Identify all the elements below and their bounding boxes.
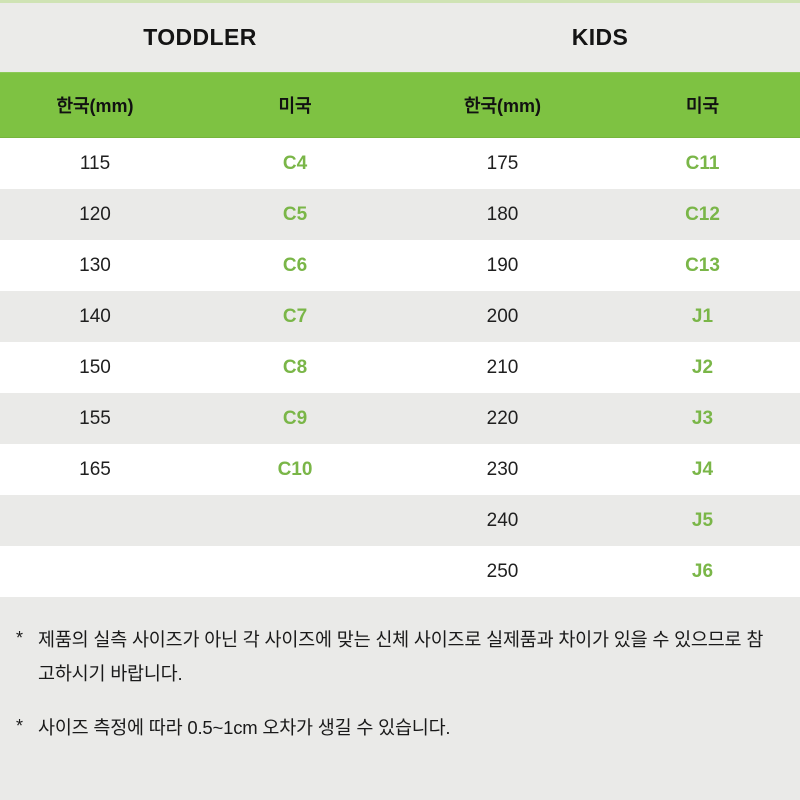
cell-toddler-usa: C6 — [190, 240, 400, 291]
asterisk-icon: * — [16, 711, 38, 741]
group-header-row: TODDLER KIDS — [0, 3, 800, 72]
group-title-toddler: TODDLER — [0, 3, 400, 72]
cell-toddler-usa — [190, 546, 400, 597]
column-header-kids-usa: 미국 — [605, 73, 800, 137]
cell-toddler-korea: 120 — [0, 189, 190, 240]
cell-toddler-korea — [0, 495, 190, 546]
cell-kids-korea: 230 — [400, 444, 605, 495]
cell-kids-korea: 220 — [400, 393, 605, 444]
table-row: 240J5 — [0, 495, 800, 546]
cell-kids-korea: 250 — [400, 546, 605, 597]
cell-toddler-usa — [190, 495, 400, 546]
column-header-toddler-usa: 미국 — [190, 73, 400, 137]
cell-kids-korea: 240 — [400, 495, 605, 546]
table-row: 140C7200J1 — [0, 291, 800, 342]
table-row: 250J6 — [0, 546, 800, 597]
asterisk-icon: * — [16, 623, 38, 653]
cell-kids-korea: 190 — [400, 240, 605, 291]
cell-toddler-korea: 165 — [0, 444, 190, 495]
cell-kids-usa: J6 — [605, 546, 800, 597]
table-row: 115C4175C11 — [0, 138, 800, 189]
cell-kids-usa: J5 — [605, 495, 800, 546]
cell-toddler-korea: 140 — [0, 291, 190, 342]
cell-toddler-korea: 130 — [0, 240, 190, 291]
table-row: 130C6190C13 — [0, 240, 800, 291]
cell-toddler-korea: 150 — [0, 342, 190, 393]
column-header-kids-korea: 한국(mm) — [400, 73, 605, 137]
cell-kids-usa: J4 — [605, 444, 800, 495]
cell-kids-korea: 180 — [400, 189, 605, 240]
cell-toddler-korea: 115 — [0, 138, 190, 189]
footnotes: *제품의 실측 사이즈가 아닌 각 사이즈에 맞는 신체 사이즈로 실제품과 차… — [0, 597, 800, 745]
cell-kids-korea: 175 — [400, 138, 605, 189]
size-chart-page: TODDLER KIDS 한국(mm) 미국 한국(mm) 미국 115C417… — [0, 0, 800, 800]
cell-toddler-usa: C9 — [190, 393, 400, 444]
table-row: 120C5180C12 — [0, 189, 800, 240]
cell-kids-usa: J3 — [605, 393, 800, 444]
cell-toddler-usa: C10 — [190, 444, 400, 495]
cell-toddler-usa: C7 — [190, 291, 400, 342]
cell-toddler-korea — [0, 546, 190, 597]
cell-kids-usa: C13 — [605, 240, 800, 291]
table-row: 155C9220J3 — [0, 393, 800, 444]
table-row: 165C10230J4 — [0, 444, 800, 495]
size-table-body: 115C4175C11120C5180C12130C6190C13140C720… — [0, 138, 800, 597]
cell-kids-usa: C12 — [605, 189, 800, 240]
group-title-kids: KIDS — [400, 3, 800, 72]
cell-toddler-usa: C8 — [190, 342, 400, 393]
column-header-toddler-korea: 한국(mm) — [0, 73, 190, 137]
cell-kids-korea: 210 — [400, 342, 605, 393]
cell-toddler-korea: 155 — [0, 393, 190, 444]
footnote-item: *사이즈 측정에 따라 0.5~1cm 오차가 생길 수 있습니다. — [16, 711, 784, 745]
footnote-item: *제품의 실측 사이즈가 아닌 각 사이즈에 맞는 신체 사이즈로 실제품과 차… — [16, 623, 784, 691]
cell-toddler-usa: C5 — [190, 189, 400, 240]
cell-kids-usa: C11 — [605, 138, 800, 189]
table-row: 150C8210J2 — [0, 342, 800, 393]
footnote-text: 제품의 실측 사이즈가 아닌 각 사이즈에 맞는 신체 사이즈로 실제품과 차이… — [38, 623, 768, 691]
cell-kids-korea: 200 — [400, 291, 605, 342]
cell-kids-usa: J1 — [605, 291, 800, 342]
column-header-row: 한국(mm) 미국 한국(mm) 미국 — [0, 72, 800, 138]
cell-kids-usa: J2 — [605, 342, 800, 393]
cell-toddler-usa: C4 — [190, 138, 400, 189]
footnote-text: 사이즈 측정에 따라 0.5~1cm 오차가 생길 수 있습니다. — [38, 711, 450, 745]
